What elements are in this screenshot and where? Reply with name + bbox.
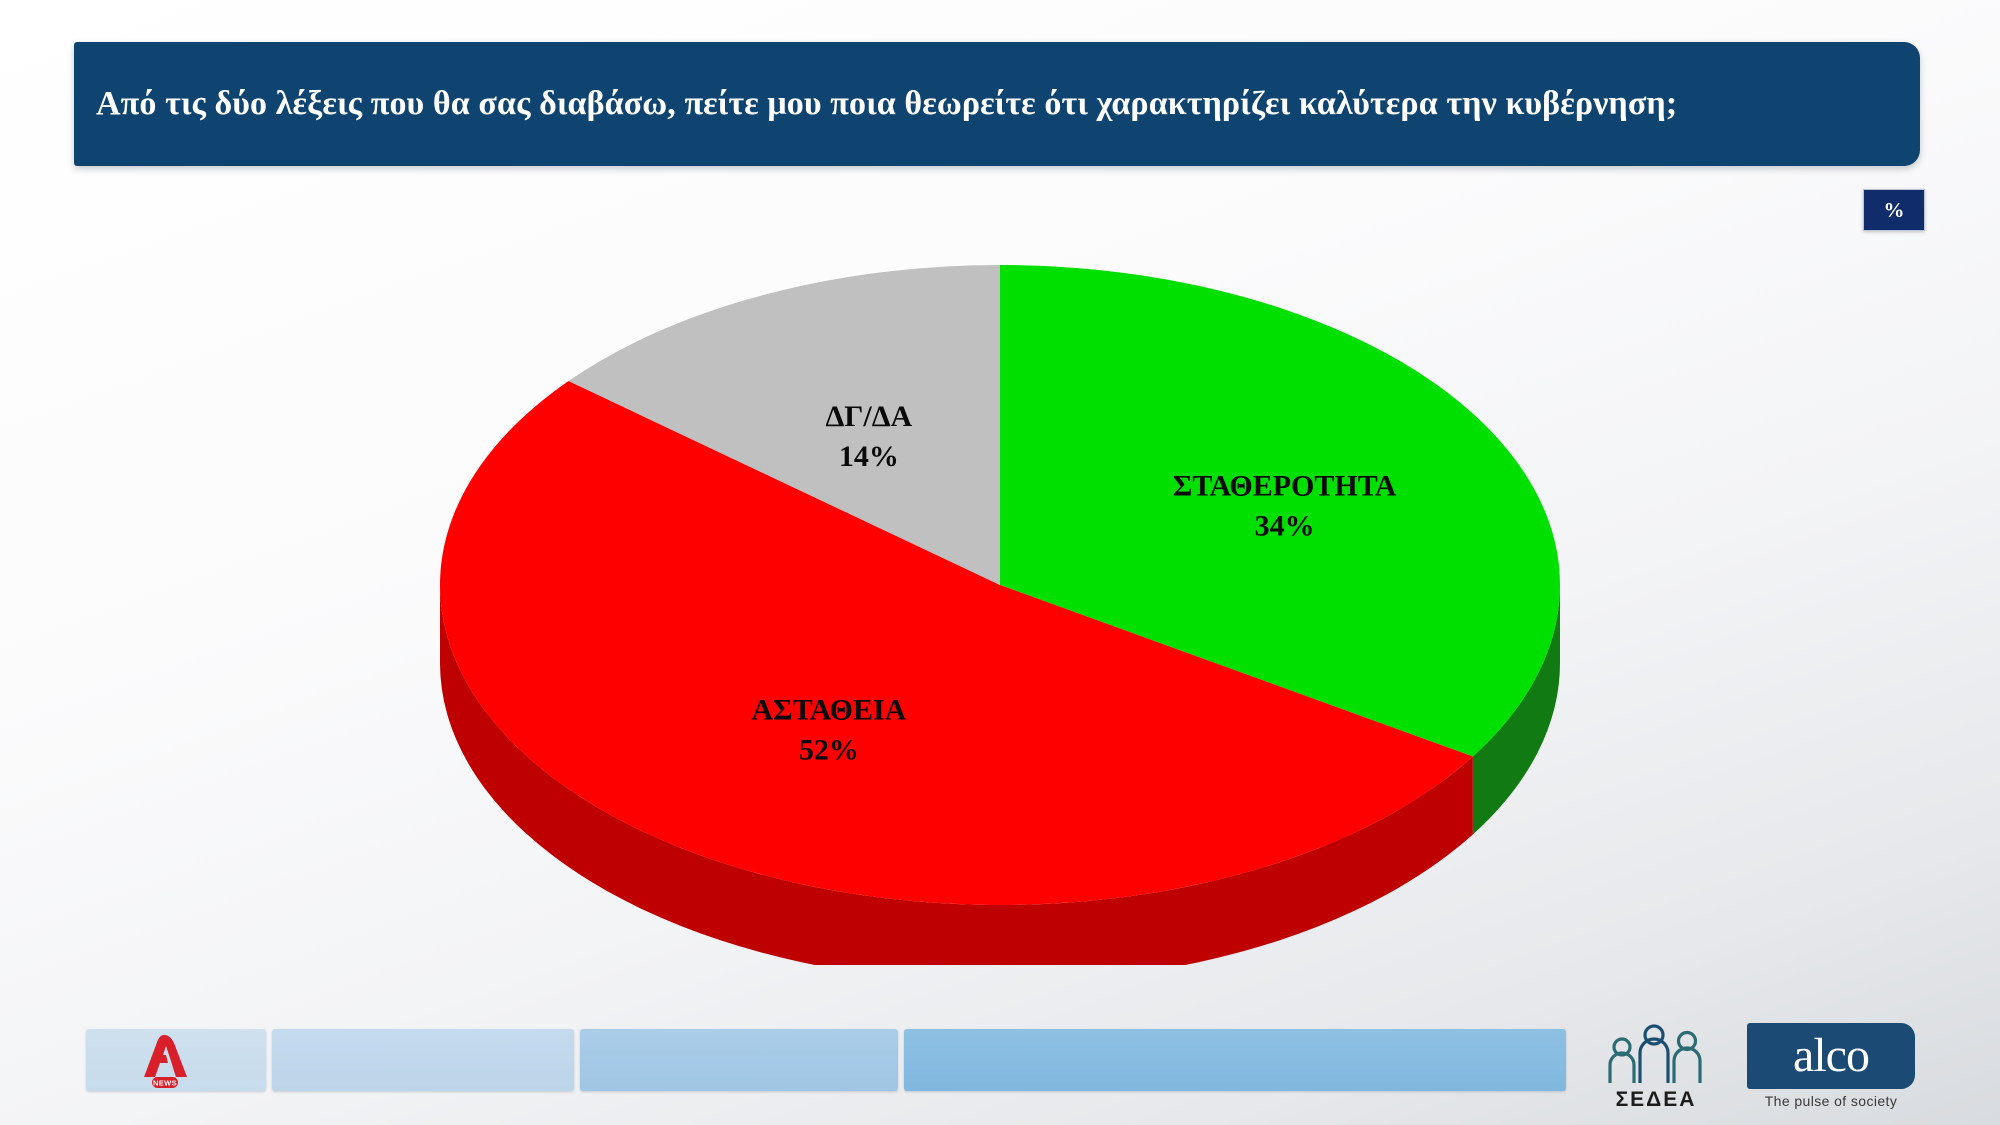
footer-segment-3 — [580, 1029, 898, 1091]
sedea-people-icon — [1596, 1021, 1716, 1085]
sedea-label: ΣΕΔΕΑ — [1596, 1088, 1716, 1112]
alco-logo: alco The pulse of society — [1747, 1023, 1947, 1119]
pie-label-name-3: ΔΓ/ΔΑ — [826, 400, 913, 433]
footer-segment-2 — [272, 1029, 574, 1091]
pie-chart-svg: ΣΤΑΘΕΡΟΤΗΤΑ34%ΑΣΤΑΘΕΙΑ52%ΔΓ/ΔΑ14% — [420, 255, 1580, 965]
alco-tagline: The pulse of society — [1747, 1093, 1915, 1109]
svg-text:NEWS: NEWS — [153, 1078, 177, 1087]
alpha-news-logo: NEWS — [138, 1033, 192, 1089]
alco-wordmark: alco — [1793, 1032, 1869, 1080]
pie-label-value-2: 52% — [799, 734, 859, 767]
footer-segment-4 — [904, 1029, 1566, 1091]
pie-label-name-1: ΣΤΑΘΕΡΟΤΗΤΑ — [1173, 470, 1397, 503]
pie-slices — [440, 265, 1560, 905]
pie-label-name-2: ΑΣΤΑΘΕΙΑ — [751, 694, 906, 727]
pie-label-value-1: 34% — [1255, 510, 1315, 543]
alpha-news-logo-icon: NEWS — [138, 1033, 192, 1089]
alco-wordmark-box: alco — [1747, 1023, 1915, 1089]
percent-unit-badge: % — [1863, 189, 1925, 231]
pie-label-value-3: 14% — [839, 440, 899, 473]
sedea-logo: ΣΕΔΕΑ — [1596, 1021, 1716, 1115]
page-title: Από τις δύο λέξεις που θα σας διαβάσω, π… — [74, 83, 1697, 126]
pie-chart: ΣΤΑΘΕΡΟΤΗΤΑ34%ΑΣΤΑΘΕΙΑ52%ΔΓ/ΔΑ14% — [420, 255, 1580, 965]
title-bar: Από τις δύο λέξεις που θα σας διαβάσω, π… — [74, 42, 1920, 166]
footer: NEWS ΣΕΔΕΑ alco The pulse of society — [0, 1005, 2000, 1125]
